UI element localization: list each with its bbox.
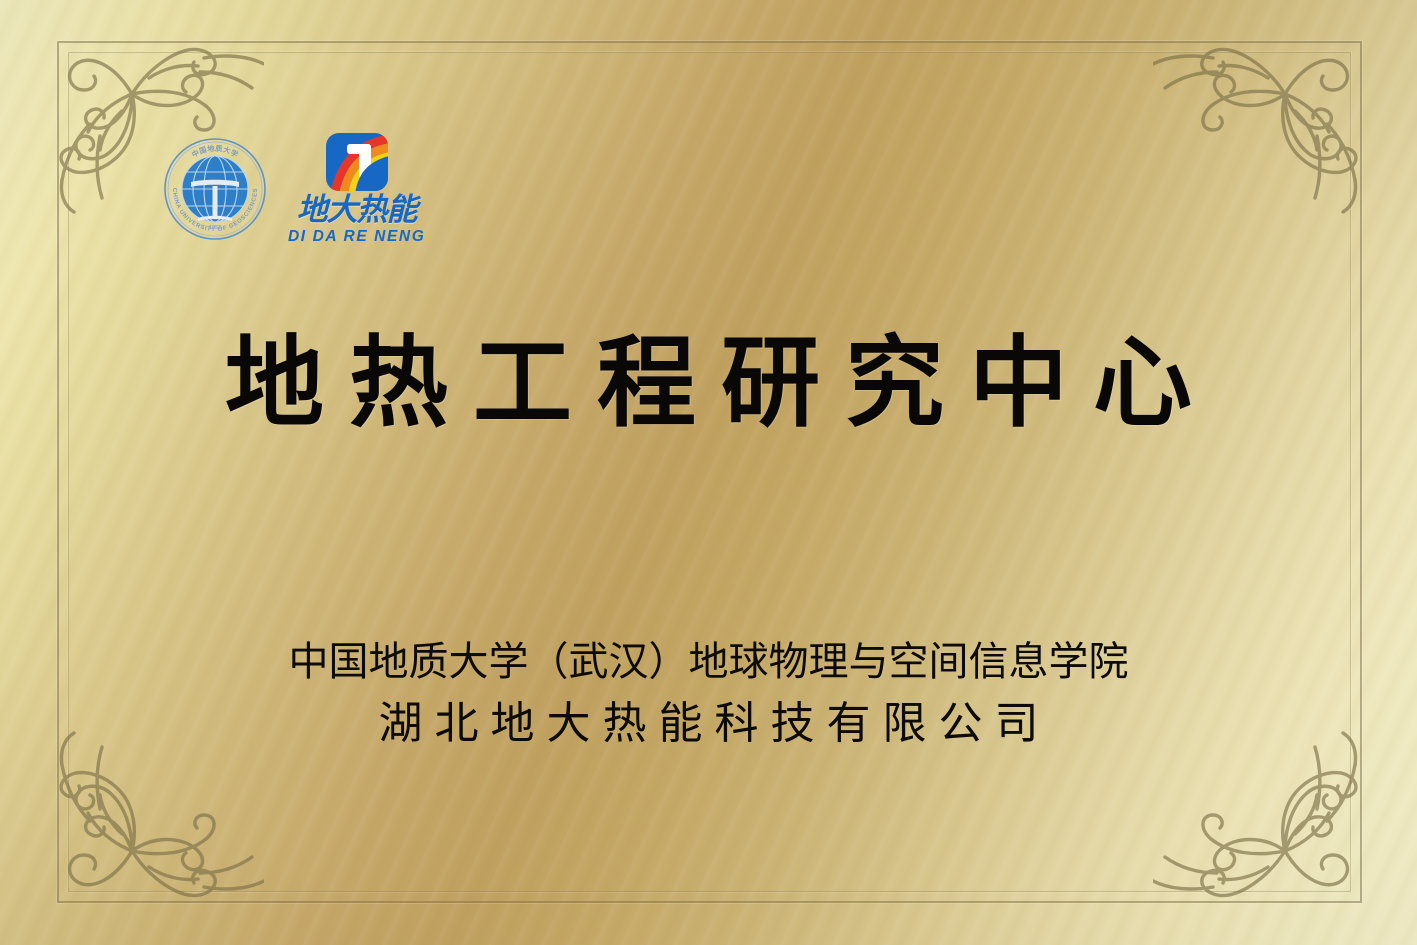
- seal-founded-year: 1952: [209, 225, 221, 231]
- company-name-pinyin: DI DA RE NENG: [288, 228, 425, 246]
- company-logo: 地大热能 DI DA RE NENG: [288, 132, 425, 246]
- ornament-corner-bottom-right: [1153, 724, 1413, 939]
- organization-line-1: 中国地质大学（武汉）地球物理与空间信息学院: [0, 638, 1417, 687]
- ornament-corner-bottom-left: [4, 724, 264, 939]
- page-title: 地热工程研究中心: [0, 330, 1417, 439]
- logo-row: 中国地质大学 CHINA UNIVERSITY OF GEOSCIENCES 1…: [160, 132, 425, 246]
- organization-line-2: 湖北地大热能科技有限公司: [0, 695, 1417, 752]
- scroll-filigree-icon: [1153, 733, 1356, 896]
- ornament-corner-top-right: [1153, 6, 1413, 221]
- university-seal-logo: 中国地质大学 CHINA UNIVERSITY OF GEOSCIENCES 1…: [160, 134, 270, 244]
- scroll-filigree-icon: [1153, 49, 1356, 212]
- scroll-filigree-icon: [61, 733, 264, 896]
- organization-block: 中国地质大学（武汉）地球物理与空间信息学院 湖北地大热能科技有限公司: [0, 638, 1417, 752]
- award-plaque: 中国地质大学 CHINA UNIVERSITY OF GEOSCIENCES 1…: [0, 0, 1417, 945]
- rainbow-square-icon: [325, 132, 389, 194]
- company-name-cn: 地大热能: [297, 195, 417, 227]
